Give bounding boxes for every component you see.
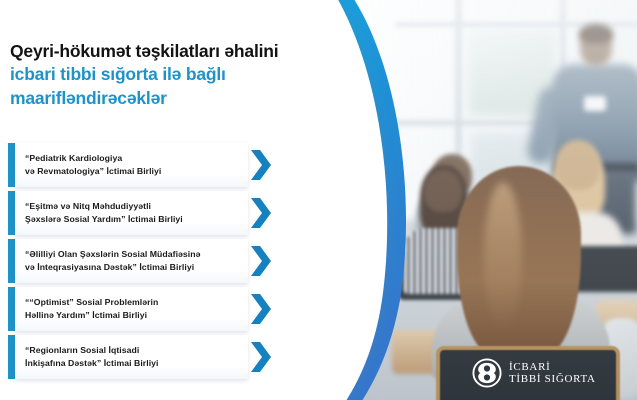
card-text-line-2: və Revmatologiya” İctimai Birliyi (25, 166, 161, 176)
card-text-line-2: Şəxslərə Sosial Yardım” İctimai Birliyi (25, 214, 183, 224)
logo: İCBARİ TİBBİ SIĞORTA (472, 358, 596, 388)
list-item[interactable]: “Pediatrik Kardiologiya və Revmatologiya… (0, 143, 300, 189)
organization-list: “Pediatrik Kardiologiya və Revmatologiya… (0, 143, 300, 383)
photo-presenter-badge (584, 96, 606, 111)
logo-text: İCBARİ TİBBİ SIĞORTA (509, 361, 596, 386)
card-accent-bar (8, 191, 15, 235)
card-text: “Eşitmə və Nitq Məhdudiyyətli Şəxslərə S… (25, 200, 183, 227)
card-body[interactable]: “Əlilliyi Olan Şəxslərin Sosial Müdafiəs… (15, 239, 248, 283)
card-text-line-2: və İnteqrasiyasına Dəstək” İctimai Birli… (25, 262, 194, 272)
photo-audience-head (424, 170, 462, 212)
content-column: Qeyri-hökumət təşkilatları əhalini icbar… (0, 0, 360, 400)
chevron-right-icon[interactable] (249, 293, 271, 325)
card-body[interactable]: “Pediatrik Kardiologiya və Revmatologiya… (15, 143, 248, 187)
card-accent-bar (8, 287, 15, 331)
card-text-line-1: ““Optimist” Sosial Problemlərin (25, 297, 158, 307)
card-text-line-1: “Eşitmə və Nitq Məhdudiyyətli (25, 201, 151, 211)
card-text: “Pediatrik Kardiologiya və Revmatologiya… (25, 152, 161, 179)
card-text: ““Optimist” Sosial Problemlərin Həllinə … (25, 296, 158, 323)
card-body[interactable]: ““Optimist” Sosial Problemlərin Həllinə … (15, 287, 248, 331)
headline-line-3: maarifləndirəcəklər (10, 87, 355, 111)
card-body[interactable]: “Eşitmə və Nitq Məhdudiyyətli Şəxslərə S… (15, 191, 248, 235)
card-text-line-2: İnkişafına Dəstək” İctimai Birliyi (25, 358, 159, 368)
photo-audience-head (556, 140, 600, 190)
card-accent-bar (8, 335, 15, 379)
chevron-right-icon[interactable] (249, 149, 271, 181)
headline-line-1: Qeyri-hökumət təşkilatları əhalini (10, 40, 355, 64)
card-text-line-1: “Regionların Sosial İqtisadi (25, 345, 139, 355)
chevron-right-icon[interactable] (249, 245, 271, 277)
banner-root: Qeyri-hökumət təşkilatları əhalini icbar… (0, 0, 637, 400)
list-item[interactable]: “Eşitmə və Nitq Məhdudiyyətli Şəxslərə S… (0, 191, 300, 237)
card-accent-bar (8, 143, 15, 187)
logo-text-line-1: İCBARİ (509, 361, 596, 373)
list-item[interactable]: “Regionların Sosial İqtisadi İnkişafına … (0, 335, 300, 381)
card-accent-bar (8, 239, 15, 283)
page-title: Qeyri-hökumət təşkilatları əhalini icbar… (10, 40, 355, 111)
chevron-right-icon[interactable] (249, 197, 271, 229)
card-text-line-2: Həllinə Yardım” İctimai Birliyi (25, 310, 147, 320)
card-text-line-1: “Əlilliyi Olan Şəxslərin Sosial Müdafiəs… (25, 249, 201, 259)
card-text: “Regionların Sosial İqtisadi İnkişafına … (25, 344, 159, 371)
chevron-right-icon[interactable] (249, 341, 271, 373)
card-body[interactable]: “Regionların Sosial İqtisadi İnkişafına … (15, 335, 248, 379)
photo-presenter-hair (579, 24, 613, 43)
list-item[interactable]: “Əlilliyi Olan Şəxslərin Sosial Müdafiəs… (0, 239, 300, 285)
card-text-line-1: “Pediatrik Kardiologiya (25, 153, 122, 163)
card-text: “Əlilliyi Olan Şəxslərin Sosial Müdafiəs… (25, 248, 201, 275)
list-item[interactable]: ““Optimist” Sosial Problemlərin Həllinə … (0, 287, 300, 333)
headline-line-2: icbari tibbi sığorta ilə bağlı (10, 63, 355, 87)
icbari-tibbi-sigorta-emblem-icon (472, 358, 502, 388)
photo-foreground-hair-highlight (484, 182, 522, 332)
logo-text-line-2: TİBBİ SIĞORTA (509, 373, 596, 385)
